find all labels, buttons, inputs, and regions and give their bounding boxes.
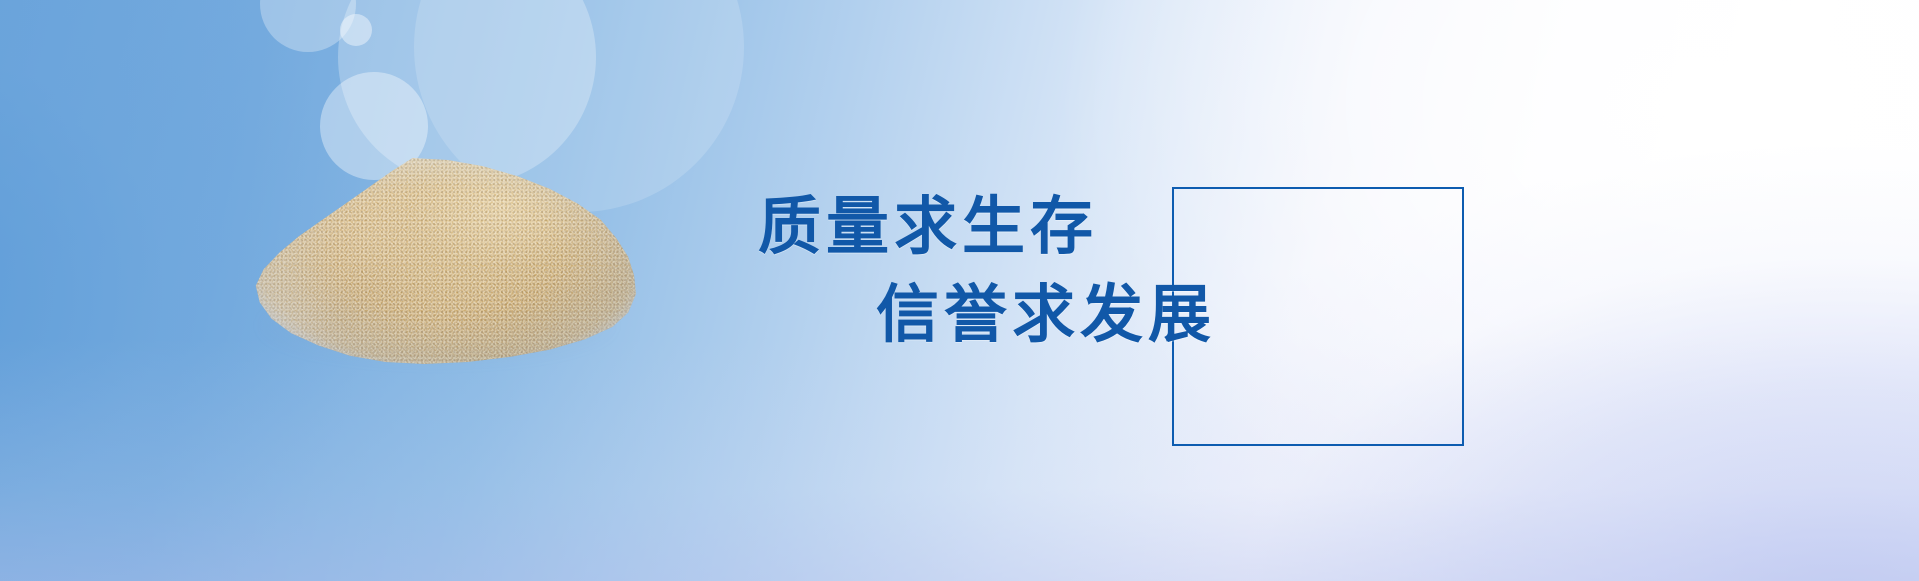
sand-grain-texture-fine bbox=[244, 158, 636, 364]
decorative-circle-small-icon bbox=[340, 14, 372, 46]
hero-banner: 质量求生存 信誉求发展 bbox=[0, 0, 1919, 581]
headline-line-1: 质量求生存 bbox=[758, 186, 1498, 268]
quartz-sand-pile-photo bbox=[244, 158, 636, 364]
headline-slogan: 质量求生存 信誉求发展 bbox=[758, 186, 1498, 356]
headline-line-2: 信誉求发展 bbox=[758, 274, 1498, 356]
sand-pile-body bbox=[244, 158, 636, 364]
